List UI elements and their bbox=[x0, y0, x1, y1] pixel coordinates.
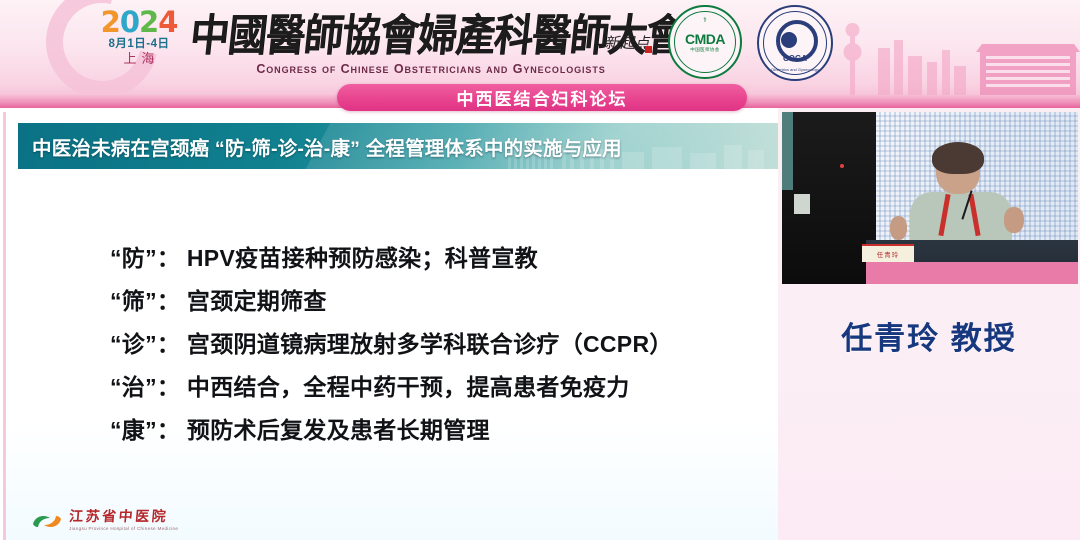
video-wall-panel bbox=[794, 194, 810, 214]
video-nameplate: 任青玲 bbox=[862, 244, 914, 262]
year-logo-block: 2024 8月1日-4日 上海 bbox=[93, 7, 185, 68]
presentation-slide: 中医治未病在宫颈癌 “防-筛-诊-治-康” 全程管理体系中的实施与应用 “防”：… bbox=[3, 112, 778, 540]
slide-title-bar: 中医治未病在宫颈癌 “防-筛-诊-治-康” 全程管理体系中的实施与应用 bbox=[18, 123, 778, 169]
hospital-name-chinese: 江苏省中医院 bbox=[68, 510, 179, 525]
bullet-line-prevent: “防”： HPV疫苗接种预防感染；科普宣教 bbox=[110, 238, 760, 278]
cmda-logo-subtext: 中国医师协会 bbox=[690, 47, 719, 53]
shanghai-skyline-graphic bbox=[832, 0, 1080, 100]
cmda-logo: ⚕ CMDA 中国医师协会 bbox=[668, 5, 742, 79]
video-speaker-hair bbox=[932, 142, 984, 174]
coga-logo-text: COGA bbox=[783, 54, 807, 63]
congress-title-english: Congress of Chinese Obstetricians and Gy… bbox=[196, 62, 666, 76]
hospital-footer-logo: 江苏省中医院 Jiangsu Province Hospital of Chin… bbox=[32, 510, 178, 532]
coga-mother-child-icon bbox=[781, 32, 797, 48]
red-seal-dot bbox=[645, 46, 652, 53]
video-nameplate-text: 任青玲 bbox=[877, 249, 900, 259]
year-digit-1: 2 bbox=[101, 5, 120, 39]
slide-title: 中医治未病在宫颈癌 “防-筛-诊-治-康” 全程管理体系中的实施与应用 bbox=[32, 123, 622, 169]
year-digit-2: 0 bbox=[120, 5, 139, 39]
speaker-video-feed[interactable]: 任青玲 bbox=[782, 112, 1078, 284]
bullet-line-recover: “康”： 预防术后复发及患者长期管理 bbox=[110, 410, 760, 450]
video-podium-pink-skirt bbox=[866, 262, 1078, 284]
caduceus-icon: ⚕ bbox=[703, 16, 707, 24]
video-red-indicator-light bbox=[840, 164, 844, 168]
conference-dates: 8月1日-4日 bbox=[93, 37, 185, 51]
coga-logo-subtext: Obstetrics and Gynecology bbox=[771, 67, 819, 72]
video-speaker-hand-left bbox=[890, 216, 907, 240]
year-digit-3: 2 bbox=[139, 5, 158, 39]
speaker-side-panel: 任青玲 任青玲 教授 bbox=[778, 108, 1080, 540]
video-teal-edge bbox=[782, 112, 793, 190]
hospital-swoosh-icon bbox=[32, 513, 62, 530]
coga-logo: COGA Obstetrics and Gynecology bbox=[757, 5, 833, 81]
speaker-name-label: 任青玲 教授 bbox=[778, 313, 1080, 358]
year-2024-logo: 2024 bbox=[93, 7, 185, 37]
hospital-name-english: Jiangsu Province Hospital of Chinese Med… bbox=[69, 525, 178, 532]
bullet-line-screen: “筛”： 宫颈定期筛查 bbox=[110, 281, 760, 321]
forum-title-banner: 中西医结合妇科论坛 bbox=[337, 84, 747, 111]
bullet-line-diagnose: “诊”： 宫颈阴道镜病理放射多学科联合诊疗（CCPR） bbox=[110, 324, 760, 364]
cmda-logo-text: CMDA bbox=[685, 31, 725, 47]
bullet-line-treat: “治”： 中西结合，全程中药干预，提高患者免疫力 bbox=[110, 367, 760, 407]
year-digit-4: 4 bbox=[158, 5, 177, 39]
conference-city: 上海 bbox=[93, 52, 185, 68]
video-speaker-hand-right bbox=[1004, 207, 1024, 233]
slide-bullet-list: “防”： HPV疫苗接种预防感染；科普宣教 “筛”： 宫颈定期筛查 “诊”： 宫… bbox=[110, 238, 760, 453]
